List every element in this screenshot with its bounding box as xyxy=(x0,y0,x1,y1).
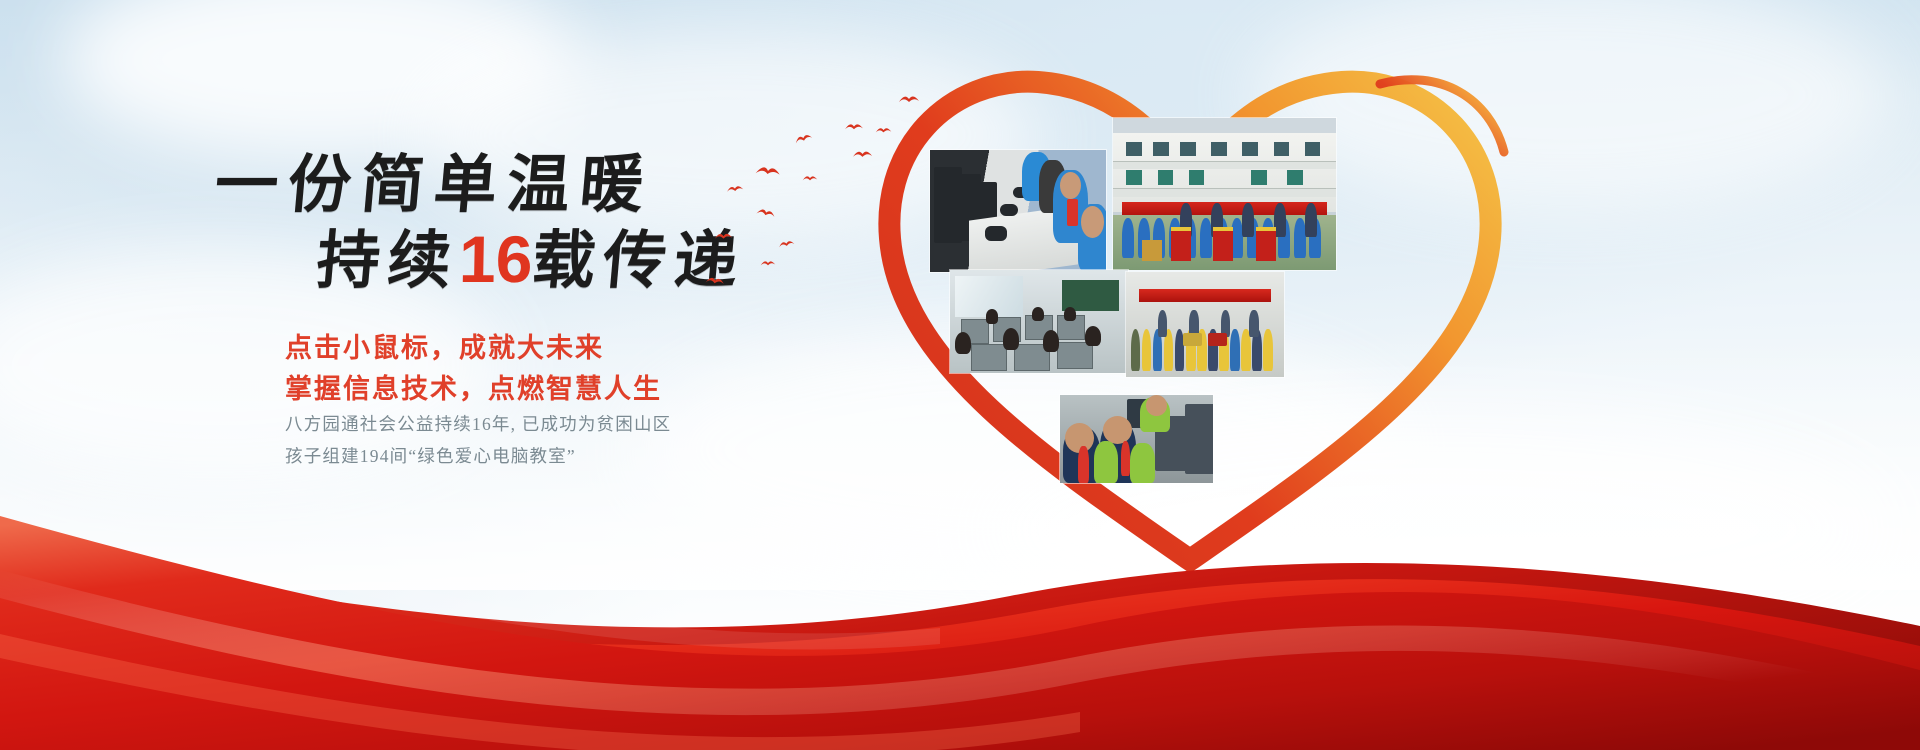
subheadline-line-2: 掌握信息技术，点燃智慧人生 xyxy=(285,369,662,410)
bird-icon xyxy=(754,163,781,179)
headline-line-2-prefix: 持续 xyxy=(314,226,462,296)
headline-line-1: 一份简单温暖 xyxy=(212,150,738,222)
subheadline: 点击小鼠标，成就大未来 掌握信息技术，点燃智慧人生 xyxy=(285,328,662,410)
bird-icon xyxy=(777,239,795,250)
bird-icon xyxy=(726,184,745,194)
bird-icon xyxy=(755,205,777,220)
photo-indoor-group-ceremony xyxy=(1126,272,1284,377)
bird-icon xyxy=(793,131,814,146)
subheadline-line-1: 点击小鼠标，成就大未来 xyxy=(285,328,662,369)
bird-icon xyxy=(714,232,733,241)
headline-line-2: 持续16载传递 xyxy=(314,222,739,298)
headline-year-count: 16 xyxy=(458,222,533,297)
bird-icon xyxy=(802,175,818,182)
banner-root: 一份简单温暖 持续16载传递 点击小鼠标，成就大未来 掌握信息技术，点燃智慧人生… xyxy=(0,0,1920,750)
headline: 一份简单温暖 持续16载传递 xyxy=(215,150,735,298)
photo-school-donation-ceremony xyxy=(1113,118,1336,270)
photo-computer-lab-students xyxy=(930,150,1106,272)
bird-icon xyxy=(760,260,776,267)
photo-classroom-computers xyxy=(950,270,1128,373)
bird-icon xyxy=(703,274,726,288)
red-silk-wave-ribbon xyxy=(0,420,1920,750)
